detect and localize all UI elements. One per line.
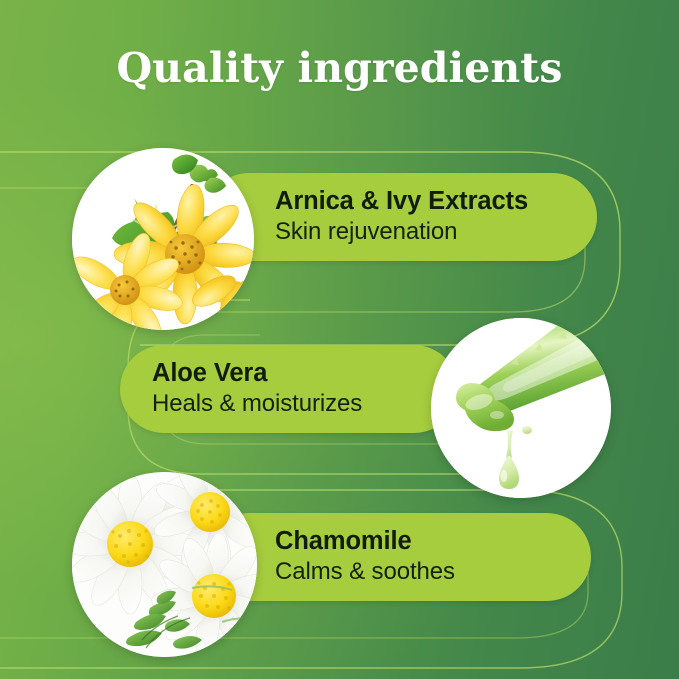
ingredient-pill-aloe-vera: Aloe Vera Heals & moisturizes [120,345,458,433]
ingredient-name: Arnica & Ivy Extracts [275,187,528,216]
ingredient-description: Heals & moisturizes [152,390,362,418]
ingredient-pill-arnica-ivy: Arnica & Ivy Extracts Skin rejuvenation [205,173,597,261]
ingredient-name: Chamomile [275,527,455,556]
page-title: Quality ingredients [0,44,679,92]
aloe-vera-photo [431,318,611,498]
ingredient-text-block: Aloe Vera Heals & moisturizes [152,359,362,418]
ingredient-description: Calms & soothes [275,558,455,586]
ingredient-text-block: Chamomile Calms & soothes [275,527,455,586]
ingredient-description: Skin rejuvenation [275,218,528,246]
chamomile-photo [72,472,257,657]
arnica-ivy-photo [72,148,254,330]
quality-ingredients-infographic: Quality ingredients Arnica & Ivy Extract… [0,0,679,679]
aloe-vera-illustration [431,318,611,498]
ingredient-text-block: Arnica & Ivy Extracts Skin rejuvenation [275,187,528,246]
ingredient-pill-chamomile: Chamomile Calms & soothes [205,513,591,601]
chamomile-illustration [72,472,257,657]
arnica-ivy-illustration [72,148,254,330]
ingredient-name: Aloe Vera [152,359,362,388]
